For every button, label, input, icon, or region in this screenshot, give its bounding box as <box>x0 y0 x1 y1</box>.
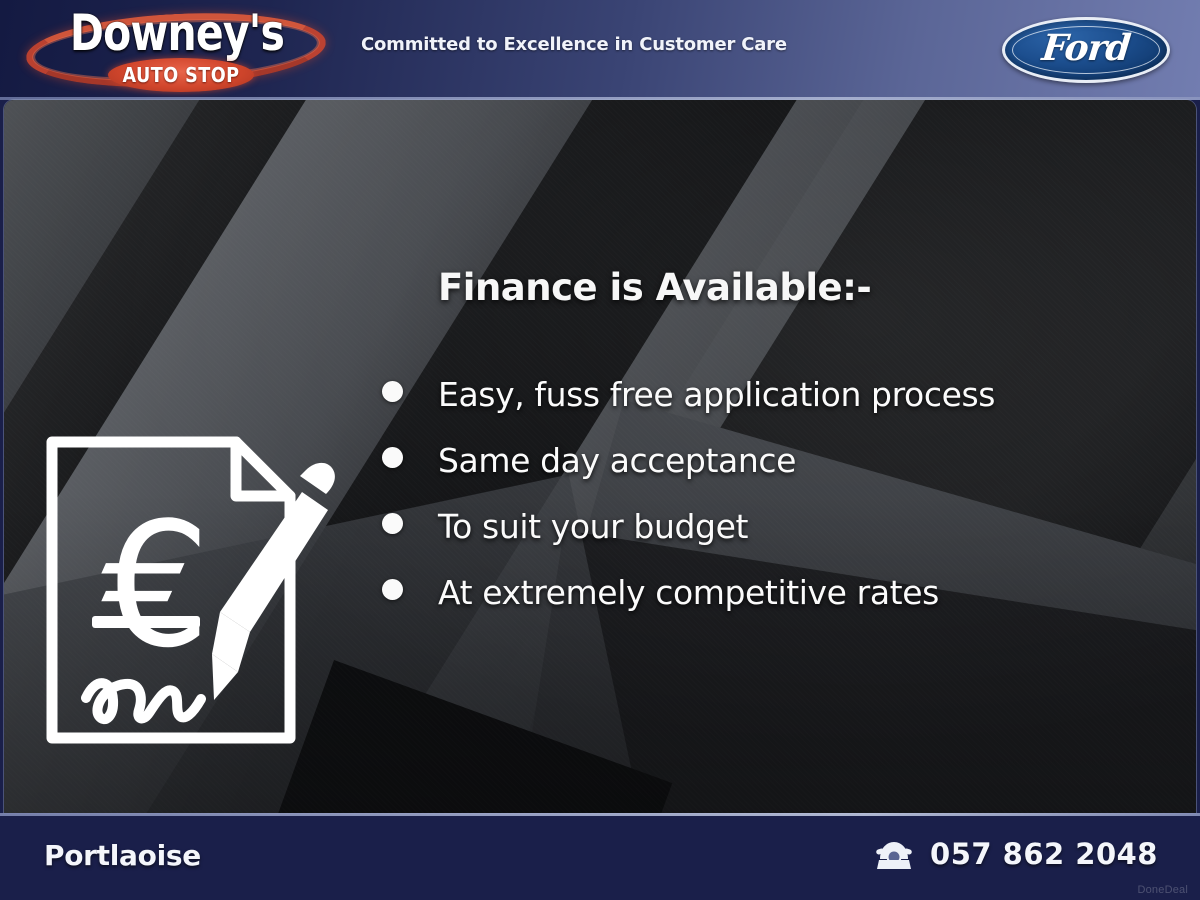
list-item-label: Same day acceptance <box>438 428 796 494</box>
dealer-location: Portlaoise <box>44 839 201 872</box>
advertisement-banner: Downey's AUTO STOP Committed to Excellen… <box>0 0 1200 900</box>
main-panel: € Finance is Available:- Easy, fuss free… <box>4 100 1196 813</box>
list-item: Easy, fuss free application process <box>382 362 1172 428</box>
contact-phone[interactable]: 057 862 2048 <box>874 837 1158 871</box>
logo-brand-name: Downey's <box>50 2 304 64</box>
header-bar: Downey's AUTO STOP Committed to Excellen… <box>0 0 1200 100</box>
bullet-dot-icon <box>382 381 403 402</box>
page-title: Finance is Available:- <box>438 266 871 309</box>
list-item: At extremely competitive rates <box>382 560 1172 626</box>
list-item-label: At extremely competitive rates <box>438 560 939 626</box>
telephone-icon <box>874 837 914 871</box>
list-item: Same day acceptance <box>382 428 1172 494</box>
finance-benefits-list: Easy, fuss free application process Same… <box>382 362 1172 626</box>
phone-number: 057 862 2048 <box>930 837 1158 871</box>
ford-wordmark: Ford <box>999 15 1174 81</box>
svg-text:€: € <box>101 485 210 686</box>
list-item-label: Easy, fuss free application process <box>438 362 995 428</box>
list-item-label: To suit your budget <box>438 494 748 560</box>
bullet-dot-icon <box>382 579 403 600</box>
footer-bar: Portlaoise 057 862 2048 DoneDeal <box>0 813 1200 900</box>
dealer-logo[interactable]: Downey's AUTO STOP <box>22 2 332 98</box>
source-watermark: DoneDeal <box>1137 884 1188 896</box>
logo-sub-name: AUTO STOP <box>117 58 245 92</box>
list-item: To suit your budget <box>382 494 1172 560</box>
bullet-dot-icon <box>382 513 403 534</box>
dealer-tagline: Committed to Excellence in Customer Care <box>361 34 787 55</box>
ford-logo[interactable]: Ford <box>1002 17 1170 83</box>
bullet-dot-icon <box>382 447 403 468</box>
finance-document-euro-signature-icon: € <box>40 430 350 750</box>
